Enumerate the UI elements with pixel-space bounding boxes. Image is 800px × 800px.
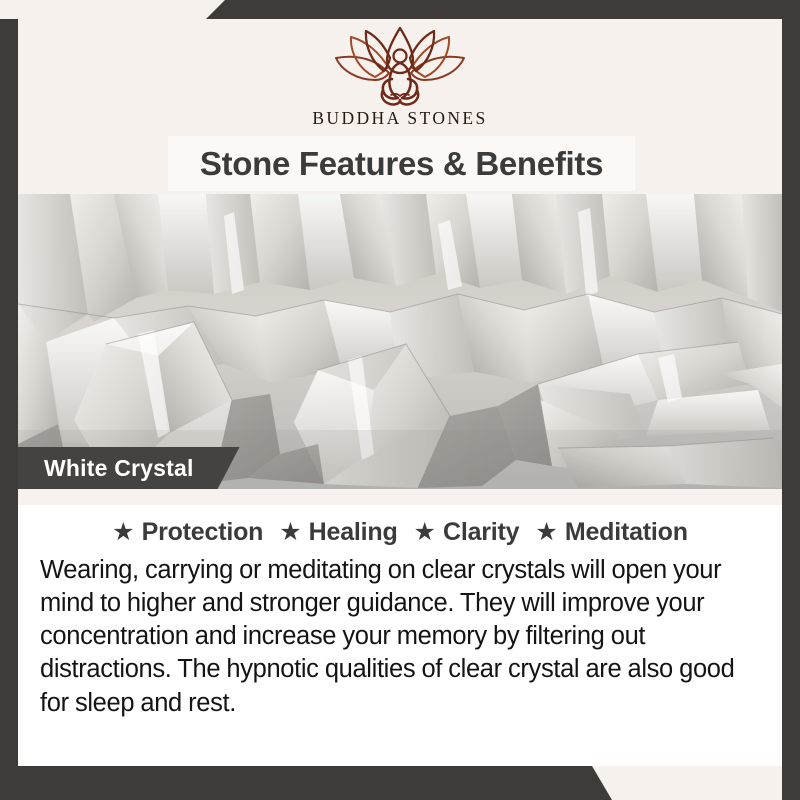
title-band: Stone Features & Benefits <box>168 136 635 191</box>
feature-label: Meditation <box>565 518 688 547</box>
feature-label: Protection <box>142 518 264 547</box>
feature-label: Clarity <box>443 518 519 547</box>
page-title: Stone Features & Benefits <box>200 145 603 183</box>
feature-item-clarity: ★ Clarity <box>414 518 520 547</box>
feature-item-protection: ★ Protection <box>112 518 263 547</box>
benefits-panel: ★ Protection ★ Healing ★ Clarity ★ Medit… <box>18 505 782 766</box>
feature-list: ★ Protection ★ Healing ★ Clarity ★ Medit… <box>40 518 760 547</box>
card-inner: BUDDHA STONES Stone Features & Benefits <box>18 19 782 766</box>
white-crystal-cluster-photo: White Crystal <box>18 194 782 489</box>
frame-right-bar <box>782 0 800 800</box>
feature-item-meditation: ★ Meditation <box>535 518 687 547</box>
title-band-wrapper: Stone Features & Benefits <box>18 136 782 194</box>
stone-name-label: White Crystal <box>44 455 194 482</box>
frame-bottom-bar <box>0 766 800 800</box>
benefits-description: Wearing, carrying or meditating on clear… <box>40 554 760 720</box>
brand-name: BUDDHA STONES <box>312 108 487 129</box>
frame-left-bar <box>0 19 18 800</box>
lotus-meditation-logo-icon <box>325 25 475 107</box>
star-icon: ★ <box>535 520 557 545</box>
star-icon: ★ <box>414 520 436 545</box>
brand-header: BUDDHA STONES <box>18 19 782 136</box>
panel-separator <box>18 489 782 505</box>
stone-name-banner: White Crystal <box>18 447 240 489</box>
feature-item-healing: ★ Healing <box>279 518 397 547</box>
product-info-card: BUDDHA STONES Stone Features & Benefits <box>0 0 800 800</box>
star-icon: ★ <box>279 520 301 545</box>
frame-top-bar <box>0 0 800 19</box>
feature-label: Healing <box>309 518 398 547</box>
star-icon: ★ <box>112 520 134 545</box>
